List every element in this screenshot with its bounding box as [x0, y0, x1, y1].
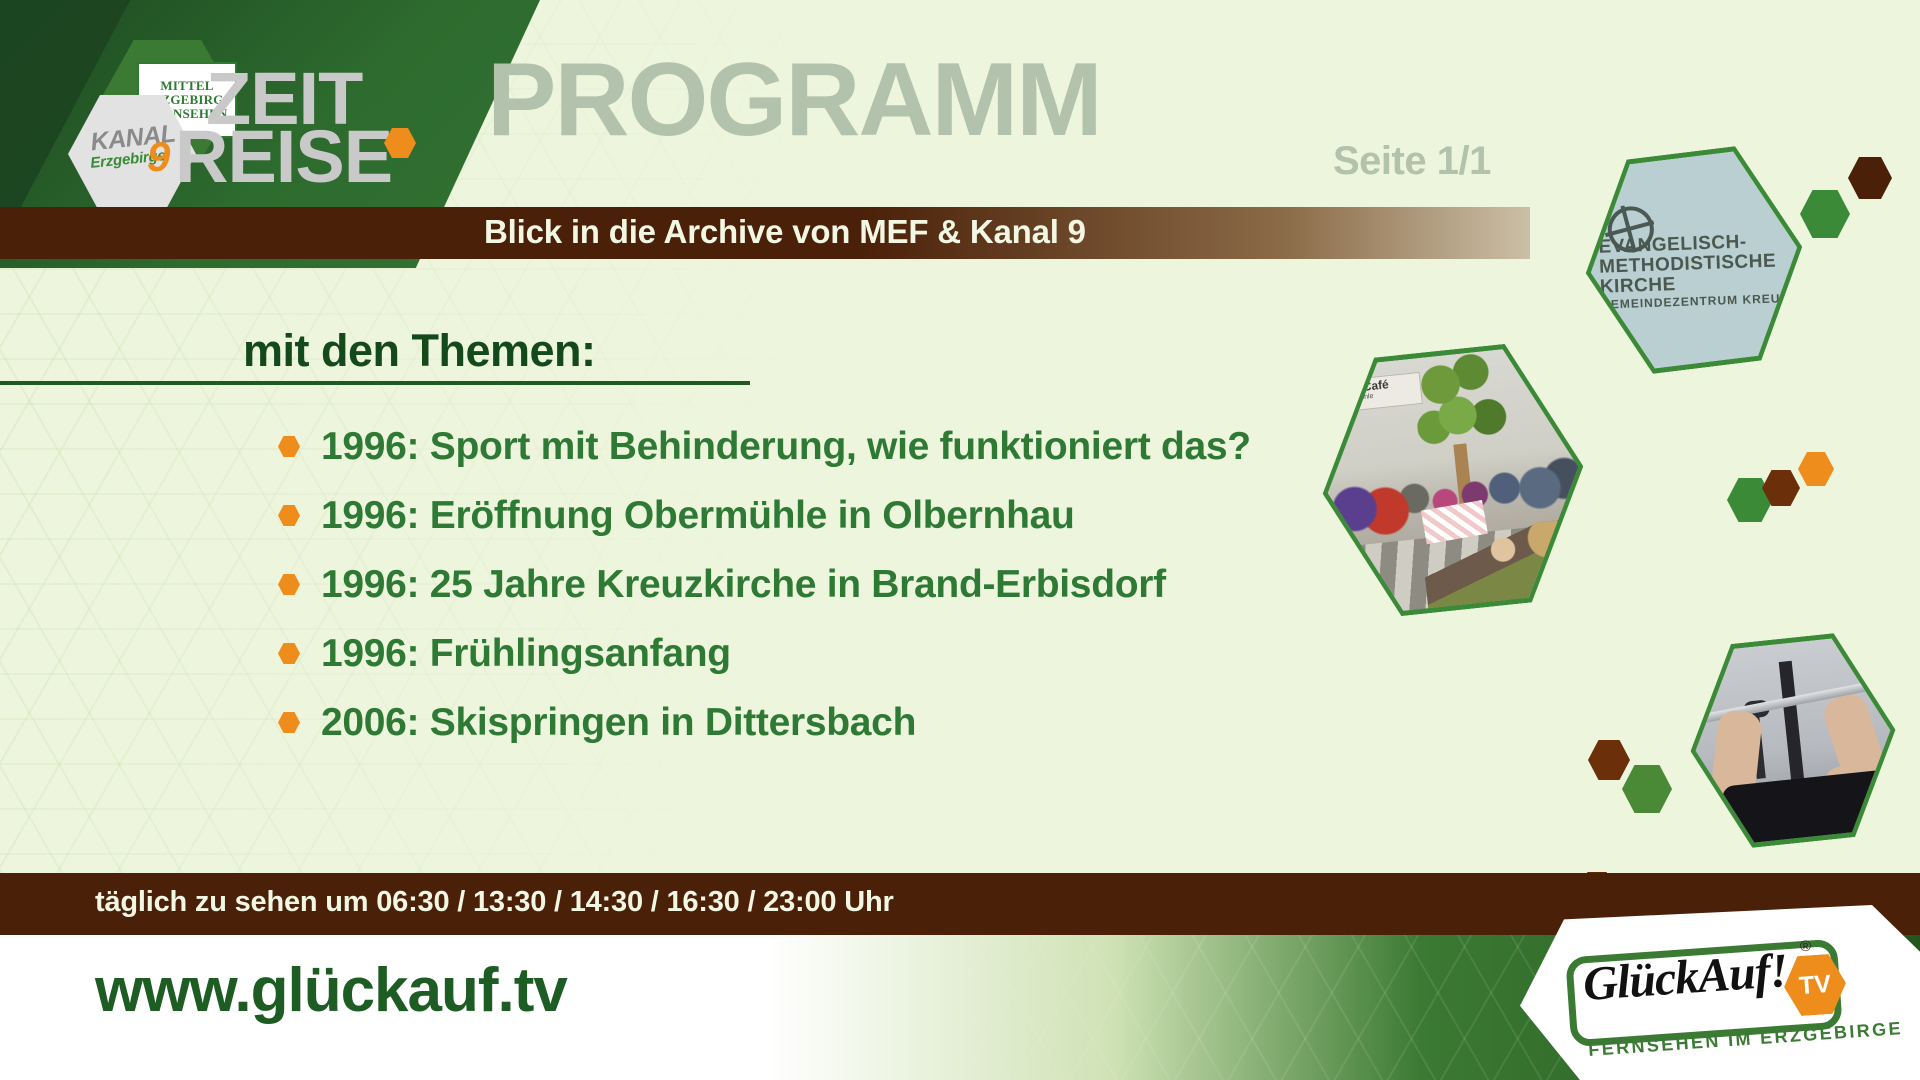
- list-item-label: 1996: Sport mit Behinderung, wie funktio…: [321, 425, 1251, 469]
- list-item-label: 1996: 25 Jahre Kreuzkirche in Brand-Erbi…: [321, 563, 1166, 607]
- page-title: PROGRAMM: [487, 48, 1101, 152]
- decorative-hexagon-orange: [1798, 452, 1834, 486]
- list-item-label: 1996: Frühlingsanfang: [321, 632, 731, 676]
- show-title-line-2: REISE: [175, 120, 392, 194]
- orange-hexagon-bullet-icon: [278, 574, 300, 595]
- list-item: 1996: Eröffnung Obermühle in Olbernhau: [278, 481, 1328, 550]
- decorative-hexagon-brown: [1848, 157, 1892, 199]
- subtitle-text: Blick in die Archive von MEF & Kanal 9: [484, 213, 1086, 251]
- photo-frame: EVANGELISCH- METHODISTISCHE KIRCHE GEMEI…: [1573, 140, 1816, 381]
- list-item: 1996: 25 Jahre Kreuzkirche in Brand-Erbi…: [278, 550, 1328, 619]
- photo-frame: [1680, 628, 1906, 853]
- program-screen: MITTEL ERZGEBIRGS FERNSEHEN KANAL Erzgeb…: [0, 0, 1920, 1080]
- photo-frame: Foyer Café Obermühle: [1309, 337, 1597, 623]
- page-indicator: Seite 1/1: [1333, 139, 1491, 184]
- schedule-text: täglich zu sehen um 06:30 / 13:30 / 14:3…: [95, 886, 894, 919]
- photo-hexagon-gym: [1680, 628, 1906, 853]
- orange-hexagon-bullet-icon: [278, 712, 300, 733]
- photo-image-gym-bench-press: [1685, 633, 1900, 847]
- kanal9-logo-number: 9: [147, 136, 170, 178]
- church-sign-text: EVANGELISCH- METHODISTISCHE KIRCHE GEMEI…: [1598, 231, 1805, 312]
- topics-list: 1996: Sport mit Behinderung, wie funktio…: [278, 412, 1328, 757]
- cafe-foreground-people: [1421, 516, 1592, 617]
- decorative-hexagon-green: [1622, 765, 1672, 813]
- list-item: 1996: Sport mit Behinderung, wie funktio…: [278, 412, 1328, 481]
- registered-trademark-icon: ®: [1800, 938, 1811, 955]
- topics-heading-rule: [0, 381, 750, 385]
- cafe-sign: Foyer Café Obermühle: [1322, 372, 1423, 414]
- photo-hexagon-church: EVANGELISCH- METHODISTISCHE KIRCHE GEMEI…: [1573, 140, 1816, 381]
- list-item: 1996: Frühlingsanfang: [278, 619, 1328, 688]
- orange-hexagon-bullet-icon: [278, 436, 300, 457]
- list-item-label: 1996: Eröffnung Obermühle in Olbernhau: [321, 494, 1075, 538]
- list-item-label: 2006: Skispringen in Dittersbach: [321, 701, 916, 745]
- topics-heading: mit den Themen:: [243, 325, 596, 377]
- website-url[interactable]: www.glückauf.tv: [95, 955, 567, 1026]
- photo-hexagon-cafe: Foyer Café Obermühle: [1309, 337, 1597, 623]
- photo-image-cafe-scene: Foyer Café Obermühle: [1315, 343, 1592, 618]
- orange-hexagon-bullet-icon: [278, 505, 300, 526]
- gym-machine-post: [1779, 661, 1804, 782]
- photo-image-church-sign: EVANGELISCH- METHODISTISCHE KIRCHE GEMEI…: [1578, 145, 1810, 375]
- list-item: 2006: Skispringen in Dittersbach: [278, 688, 1328, 757]
- orange-hexagon-bullet-icon: [278, 643, 300, 664]
- decorative-hexagon-green: [1800, 190, 1850, 238]
- decorative-hexagon-brown: [1588, 740, 1630, 780]
